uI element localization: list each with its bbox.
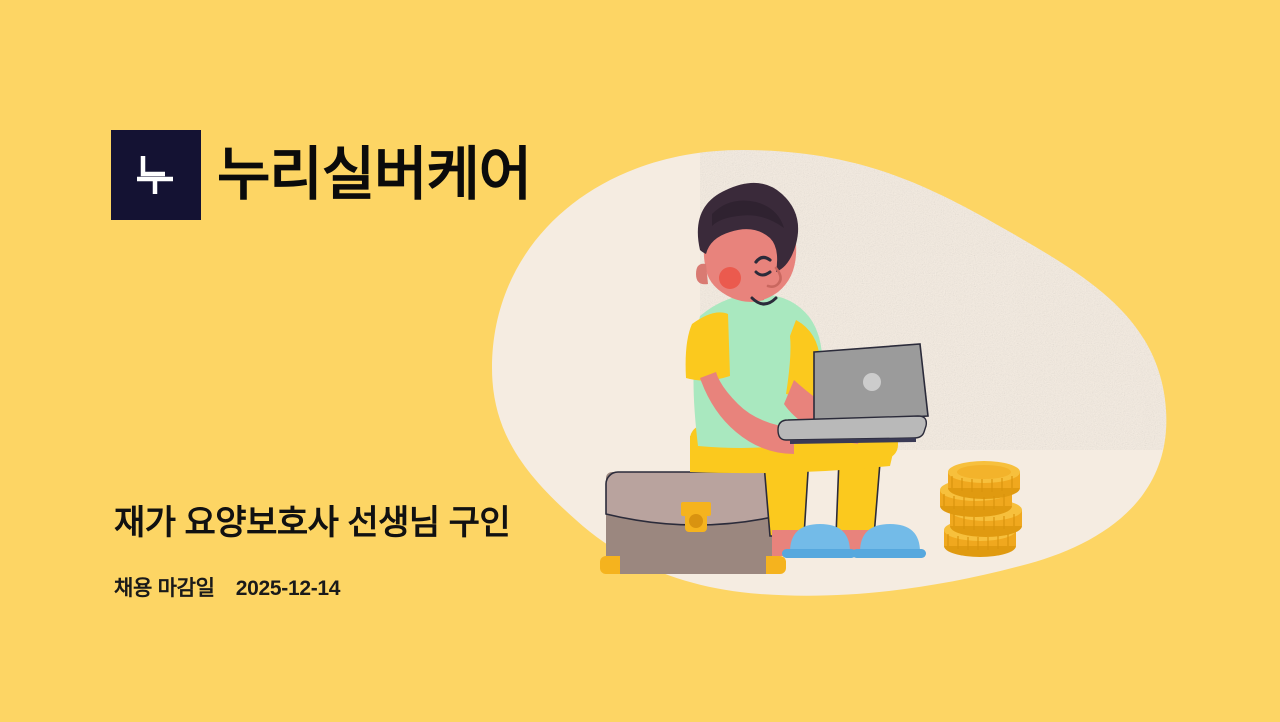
application-deadline: 채용 마감일 2025-12-14 xyxy=(114,572,634,602)
headline-block: 재가 요양보호사 선생님 구인 채용 마감일 2025-12-14 xyxy=(114,503,634,602)
company-name: 누리실버케어 xyxy=(217,146,531,204)
deadline-date: 2025-12-14 xyxy=(236,577,340,600)
company-logo-mark xyxy=(111,130,201,220)
deadline-label: 채용 마감일 xyxy=(114,577,215,600)
background-blob xyxy=(0,0,1280,722)
brand-header: 누리실버케어 xyxy=(111,130,531,220)
job-posting-poster: 누리실버케어 재가 요양보호사 선생님 구인 채용 마감일 2025-12-14 xyxy=(0,0,1280,722)
nu-monogram-icon xyxy=(129,148,183,202)
job-title: 재가 요양보호사 선생님 구인 xyxy=(114,503,634,544)
